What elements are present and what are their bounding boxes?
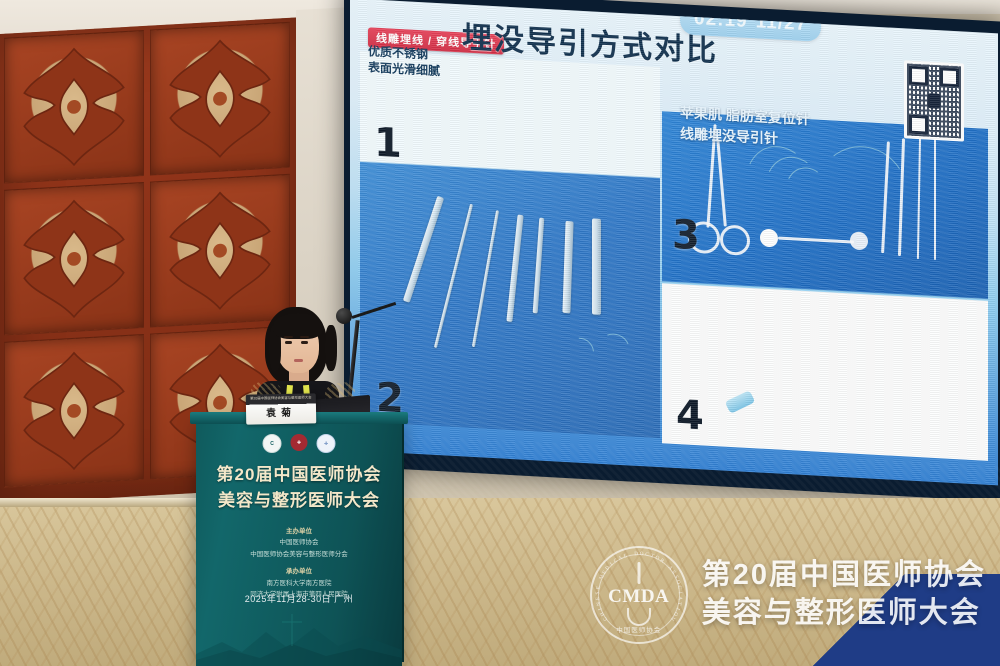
quadrant-3-number: 3 [672,212,700,260]
lattice-panel [150,22,290,176]
hair-side-right [325,325,337,371]
podium-skyline-graphic [196,602,402,666]
cannula-hub [725,390,756,414]
cmda-logo-icon: C [263,434,282,453]
hair-front [273,313,323,339]
slide-quadrant-2: 2 [360,162,660,438]
conference-photo: 1 2 [0,0,1000,666]
timer-elapsed: 02:19 [694,8,748,32]
organizer-label: 承办单位 [196,566,402,577]
host-label: 主办单位 [196,526,402,537]
watermark-line-2: 美容与整形医师大会 [702,595,986,633]
podium-title: 第20届中国医师协会 美容与整形医师大会 [196,462,402,515]
forceps-ring [720,224,750,256]
presentation-slide: 1 2 [350,0,998,485]
watermark-text: 第20届中国医师协会 美容与整形医师大会 [702,557,986,632]
thread-spool [850,231,868,250]
eyebrow-right [300,336,309,338]
lattice-ornament [151,175,289,327]
organizer-1: 南方医科大学南方医院 [196,578,402,589]
slide-right-caption: 苹果肌 脂肪室复位针 线雕埋没导引针 [680,102,810,151]
podium-title-line-2: 美容与整形医师大会 [196,488,402,514]
eyebrow-left [284,336,293,338]
mouth [294,359,303,362]
host-2: 中国医师协会美容与整形医师分会 [196,549,402,560]
podium-title-line-1: 第20届中国医师协会 [196,462,402,488]
cmda-seal-icon: CMDA 中国医师协会 CHINESE MEDICAL DOCTOR ASSOC… [590,546,688,644]
timer-date: 11/27 [756,11,808,35]
lattice-panel [4,182,144,336]
slide-left-caption: 优质不锈钢 表面光滑细腻 [368,43,440,79]
lattice-ornament [5,31,143,183]
watermark-line-1: 第20届中国医师协会 [702,557,986,595]
seal-ring-text: CHINESE MEDICAL DOCTOR ASSOCIATION [592,548,686,642]
led-screen-frame: 1 2 [344,0,1000,502]
lattice-ornament [5,183,143,335]
cannula [934,132,936,260]
nameplate-header: 第20届中国医师协会美容与整形医师大会 [246,393,316,401]
podium-logo-row: C ✚ ✛ [263,434,336,453]
lattice-panel [4,30,144,184]
lattice-ornament [5,335,143,487]
podium-organizers: 主办单位 中国医师协会 中国医师协会美容与整形医师分会 承办单位 南方医科大学南… [196,526,402,600]
podium-lectern: C ✚ ✛ 第20届中国医师协会 美容与整形医师大会 主办单位 中国医师协会 中… [196,418,402,666]
slide-quadrant-4: 4 [662,283,988,461]
qr-code-icon [904,60,964,141]
eye-right [301,341,308,344]
lattice-panel [4,334,144,488]
instrument [592,218,601,314]
eye-left [285,341,292,344]
lattice-ornament [151,23,289,175]
medical-society-logo-icon: ✛ [317,434,336,453]
quadrant-4-number: 4 [676,392,704,440]
quadrant-1-number: 1 [374,120,402,168]
thread-spool [760,229,778,248]
nameplate-name: 袁菊 [246,400,316,419]
host-1: 中国医师协会 [196,537,402,548]
red-cross-logo-icon: ✚ [291,434,308,451]
speaker-nameplate: 第20届中国医师协会美容与整形医师大会 袁菊 [246,393,317,424]
event-watermark: CMDA 中国医师协会 CHINESE MEDICAL DOCTOR ASSOC… [590,546,986,644]
